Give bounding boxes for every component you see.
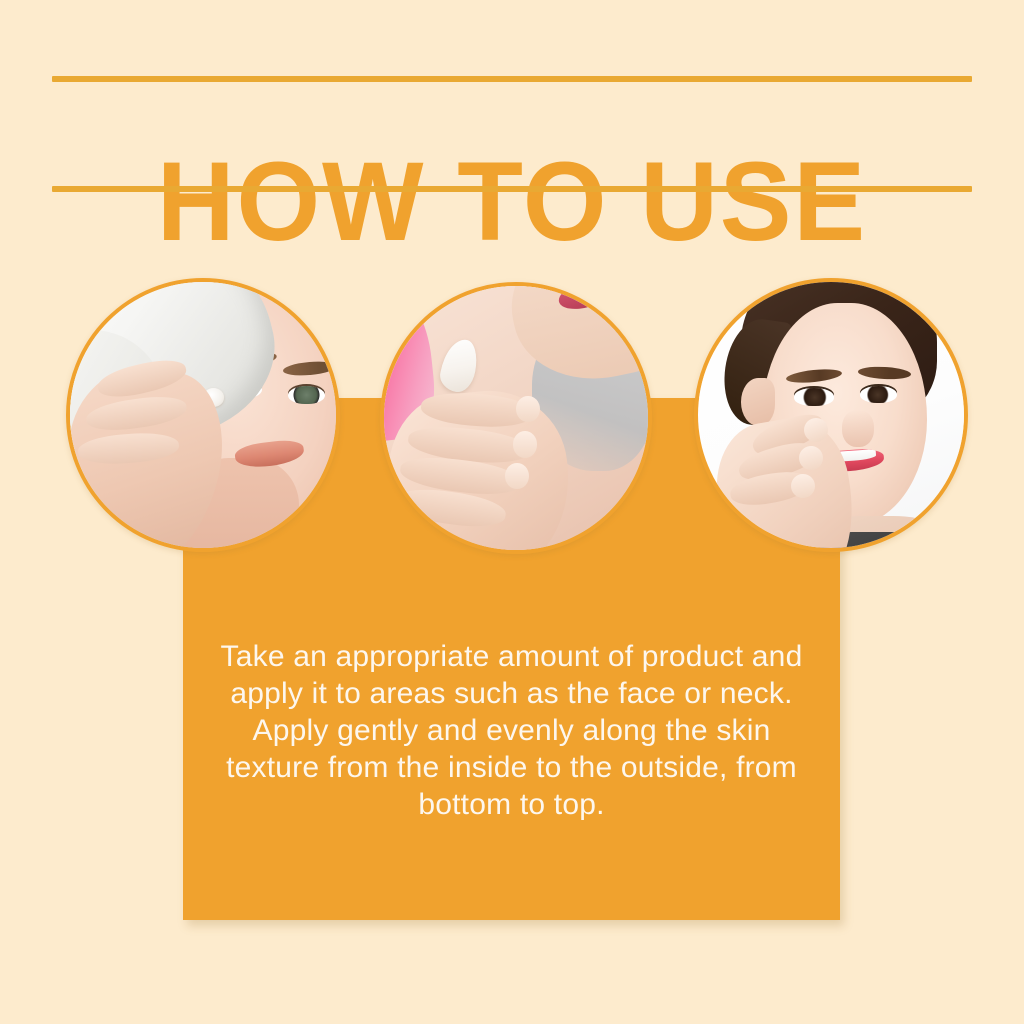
photo-3-eye-left [794,388,834,405]
photo-3-eye-right [860,386,897,403]
photo-1-scene [70,282,336,548]
header-rule-bottom [52,186,972,192]
photo-2-fingernail [513,431,537,457]
photo-neck-cream-application [380,282,652,554]
header-rule-top [52,76,972,82]
photo-1-eye-right [288,386,325,405]
photo-3-nose [842,410,874,447]
photo-3-ear [741,378,776,426]
photo-3-scene [698,282,964,548]
photo-glowing-skin-result [694,278,968,552]
instruction-text: Take an appropriate amount of product an… [183,638,840,823]
photo-face-cream-application [66,278,340,552]
photo-2-hair-strand [395,286,424,318]
photo-2-fingernail [516,396,540,422]
page-title: HOW TO USE [20,143,1003,261]
photo-2-scene [384,286,648,550]
poster-canvas: HOW TO USE [0,0,1024,1024]
